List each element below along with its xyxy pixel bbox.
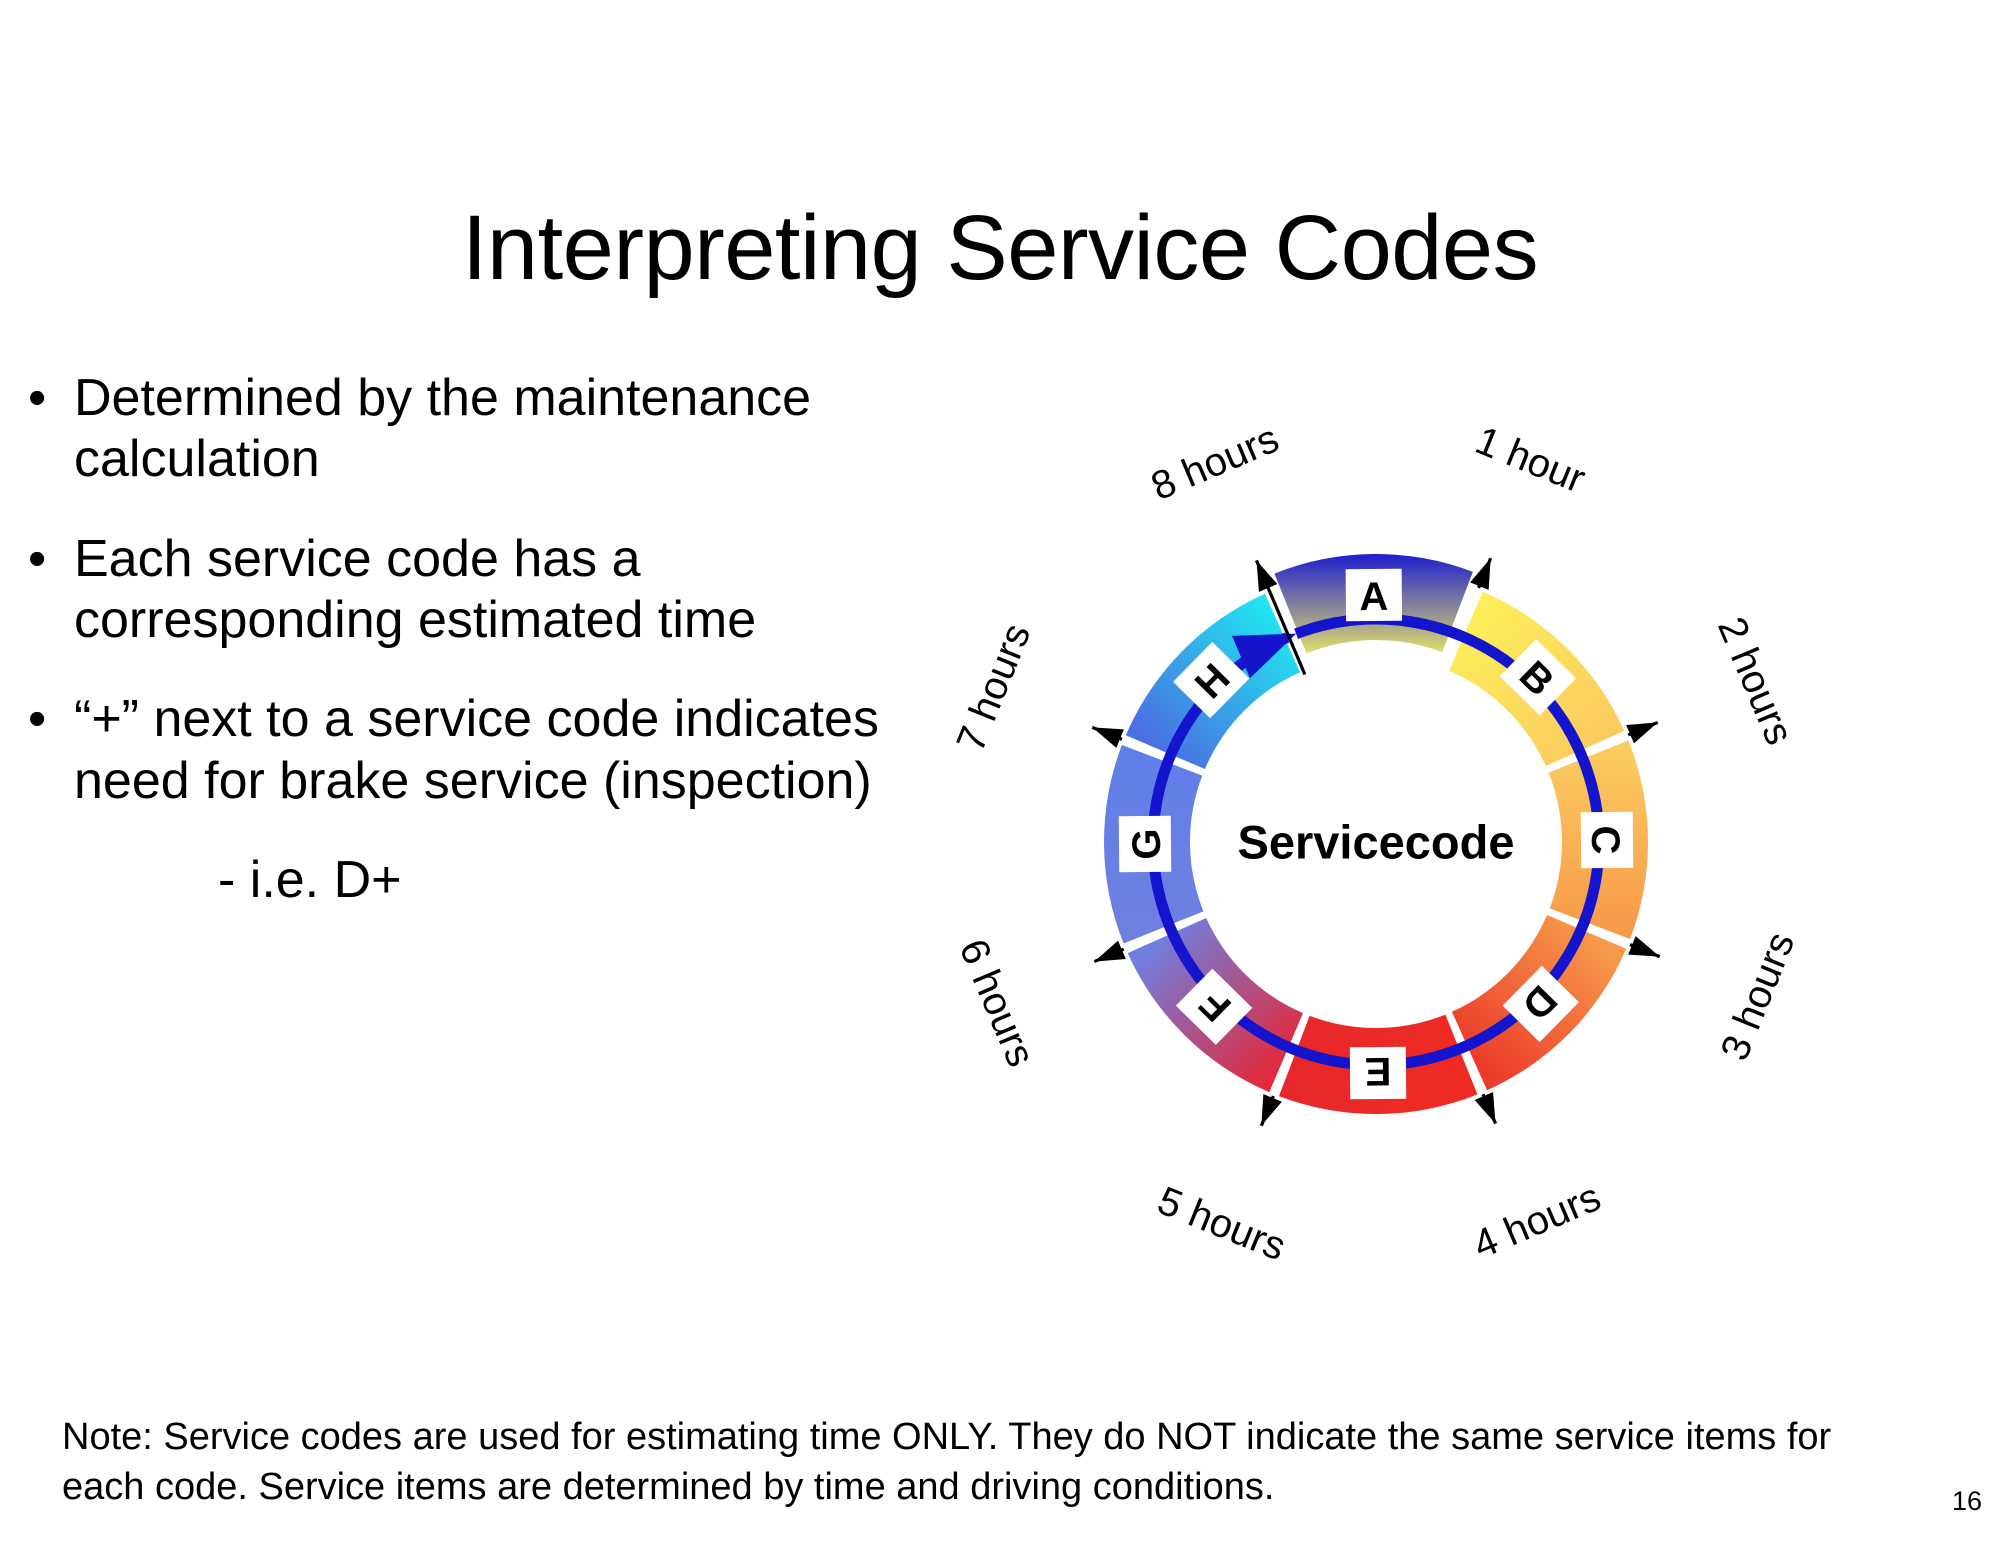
page-number: 16 — [1952, 1486, 1982, 1517]
hour-label-7-hours: 7 hours — [949, 618, 1040, 758]
donut-svg: ABCDEFGH 1 hour2 hours3 hours4 hours5 ho… — [1040, 350, 2000, 1090]
hour-label-8-hours: 8 hours — [1145, 416, 1285, 509]
leader-arrowhead-icon — [1094, 941, 1126, 962]
segment-label-c: C — [1581, 812, 1633, 868]
hour-label-4-hours: 4 hours — [1467, 1175, 1607, 1268]
bullet-text: “+” next to a service code indicates nee… — [74, 689, 908, 812]
segment-label-e: E — [1350, 1047, 1406, 1099]
list-item: • Each service code has a corresponding … — [28, 529, 908, 652]
segment-label-text: C — [1583, 825, 1627, 854]
leader-arrowhead-icon — [1256, 560, 1277, 592]
page-title: Interpreting Service Codes — [0, 202, 2000, 294]
slide: Interpreting Service Codes • Determined … — [0, 0, 2000, 1545]
hour-label-6-hours: 6 hours — [950, 933, 1043, 1073]
segment-label-text: A — [1359, 575, 1388, 619]
bullet-marker-icon: • — [28, 689, 74, 750]
sub-list-item: - i.e. D+ — [218, 850, 908, 911]
bullet-marker-icon: • — [28, 529, 74, 590]
leader-arrowhead-icon — [1470, 558, 1491, 590]
bullet-list: • Determined by the maintenance calculat… — [28, 368, 908, 912]
bullet-marker-icon: • — [28, 368, 74, 429]
segment-label-g: G — [1119, 816, 1171, 872]
servicecode-donut-chart: ABCDEFGH 1 hour2 hours3 hours4 hours5 ho… — [1040, 350, 2000, 1090]
bullet-text: Determined by the maintenance calculatio… — [74, 368, 908, 491]
leader-arrowhead-icon — [1092, 727, 1124, 748]
leader-arrowhead-icon — [1261, 1094, 1282, 1126]
note-text: Note: Service codes are used for estimat… — [62, 1412, 1902, 1512]
segment-label-text: E — [1364, 1049, 1391, 1093]
chart-center-label: Servicecode — [1238, 816, 1515, 869]
bullet-text: Each service code has a corresponding es… — [74, 529, 908, 652]
leader-arrowhead-icon — [1475, 1092, 1496, 1124]
hour-label-1-hour: 1 hour — [1470, 418, 1592, 501]
segment-label-text: G — [1125, 828, 1169, 860]
list-item: • Determined by the maintenance calculat… — [28, 368, 908, 491]
leader-arrowhead-icon — [1626, 722, 1658, 743]
list-item: • “+” next to a service code indicates n… — [28, 689, 908, 812]
hour-label-3-hours: 3 hours — [1713, 926, 1804, 1066]
hour-label-2-hours: 2 hours — [1709, 611, 1802, 751]
segment-label-a: A — [1346, 569, 1402, 621]
leader-arrowhead-icon — [1628, 936, 1660, 957]
hour-label-5-hours: 5 hours — [1152, 1179, 1292, 1270]
